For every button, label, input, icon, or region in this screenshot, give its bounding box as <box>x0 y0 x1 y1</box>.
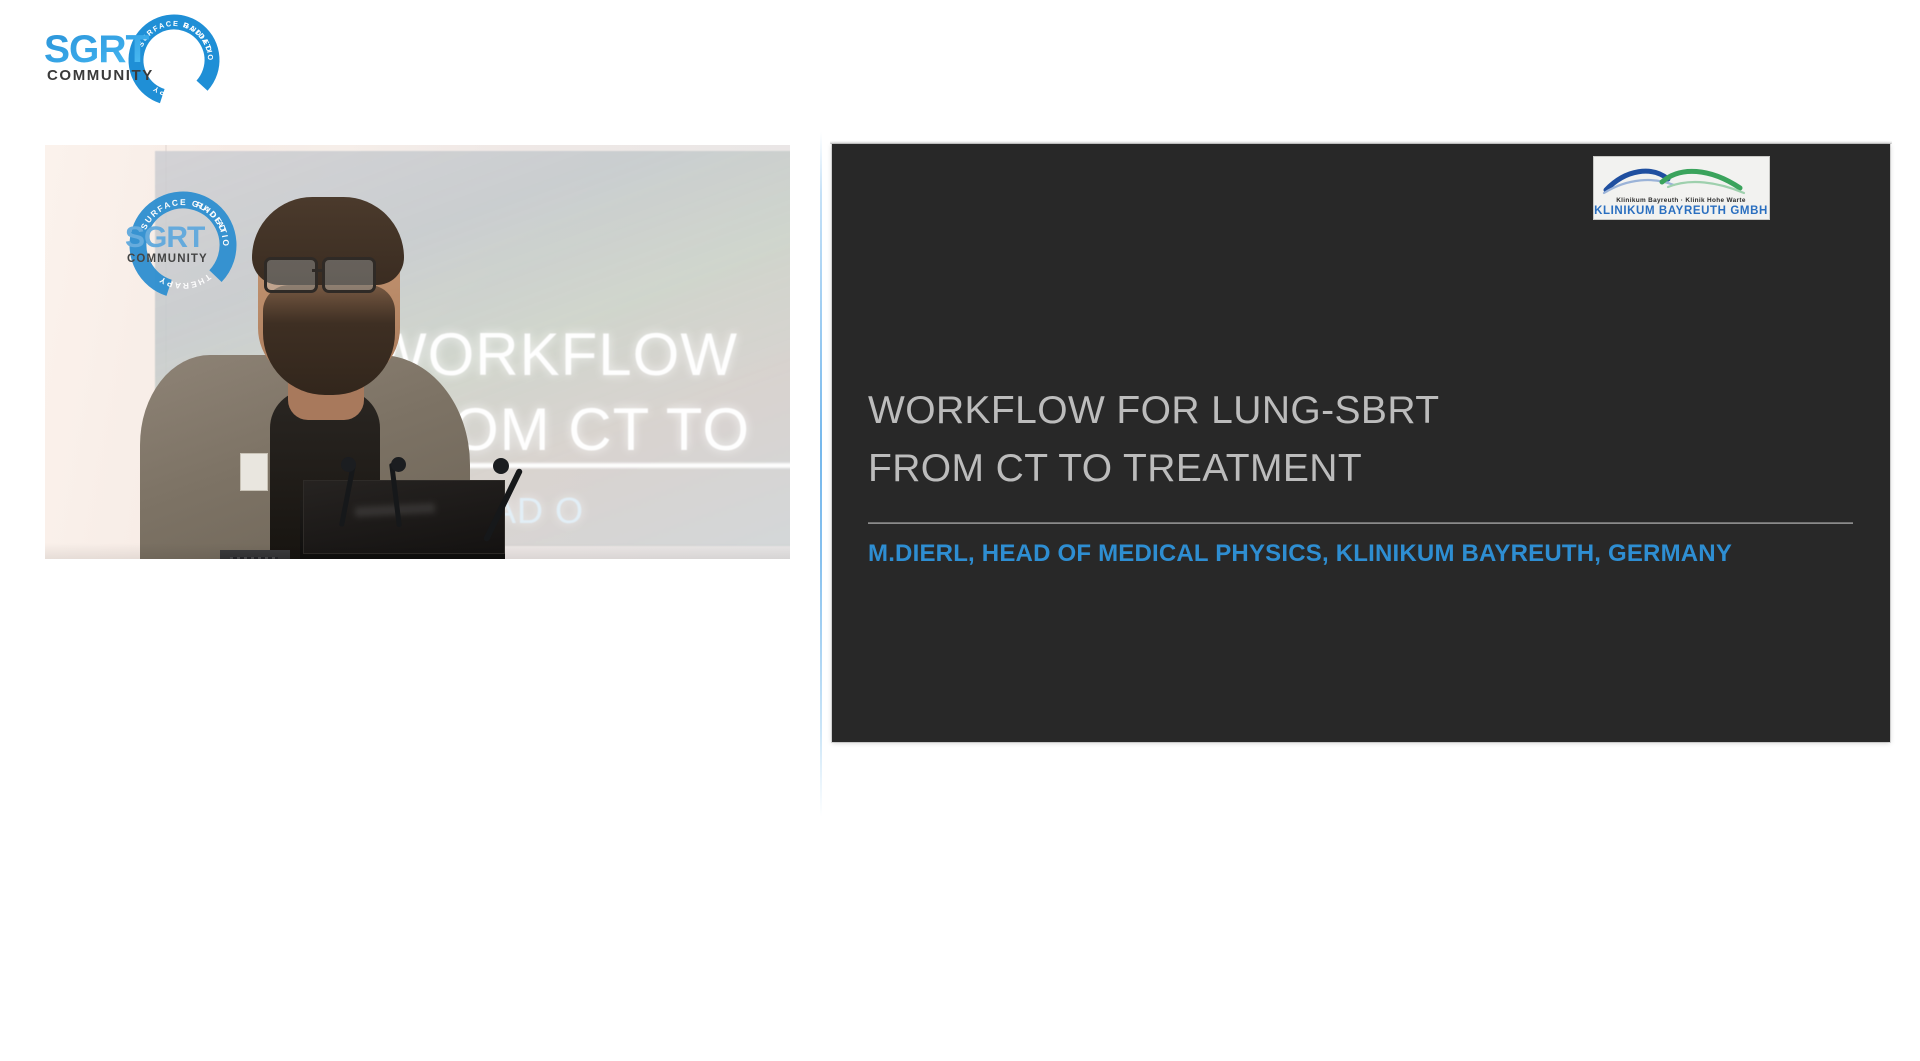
slide-divider-rule <box>868 522 1853 524</box>
clinic-tagline: Klinikum Bayreuth · Klinik Hohe Warte <box>1616 197 1746 204</box>
slide-title-line-1: WORKFLOW FOR LUNG-SBRT <box>868 382 1828 440</box>
sgrt-community-logo[interactable]: SURFACE GUIDED RADIATION THERAPY SGRT CO… <box>44 14 232 106</box>
video-bottom-fade <box>45 543 790 559</box>
slide-title-line-2: FROM CT TO TREATMENT <box>868 440 1828 498</box>
klinikum-bayreuth-logo-icon: Klinikum Bayreuth · Klinik Hohe Warte KL… <box>1594 157 1769 219</box>
microphone-head-center <box>391 457 406 472</box>
klinikum-bayreuth-logo: Klinikum Bayreuth · Klinik Hohe Warte KL… <box>1593 156 1770 220</box>
microphone-head-right <box>493 458 509 474</box>
sgrt-community-logo-icon: SURFACE GUIDED RADIATION THERAPY SGRT CO… <box>44 14 232 106</box>
presentation-slide[interactable]: Klinikum Bayreuth · Klinik Hohe Warte KL… <box>832 144 1890 742</box>
sgrt-community-word: COMMUNITY <box>47 67 154 84</box>
vertical-divider <box>820 132 822 817</box>
talk-video-thumbnail[interactable]: WORKFLOW FROM CT TO RL, HEAD O SURFACE G… <box>45 145 790 559</box>
slide-title: WORKFLOW FOR LUNG-SBRT FROM CT TO TREATM… <box>868 382 1828 498</box>
clinic-wordmark: KLINIKUM BAYREUTH GMBH <box>1594 205 1768 217</box>
sgrt-wordmark: SGRT <box>44 28 150 71</box>
microphone-head-left <box>341 457 356 472</box>
slide-subtitle: M.DIERL, HEAD OF MEDICAL PHYSICS, KLINIK… <box>868 540 1732 568</box>
